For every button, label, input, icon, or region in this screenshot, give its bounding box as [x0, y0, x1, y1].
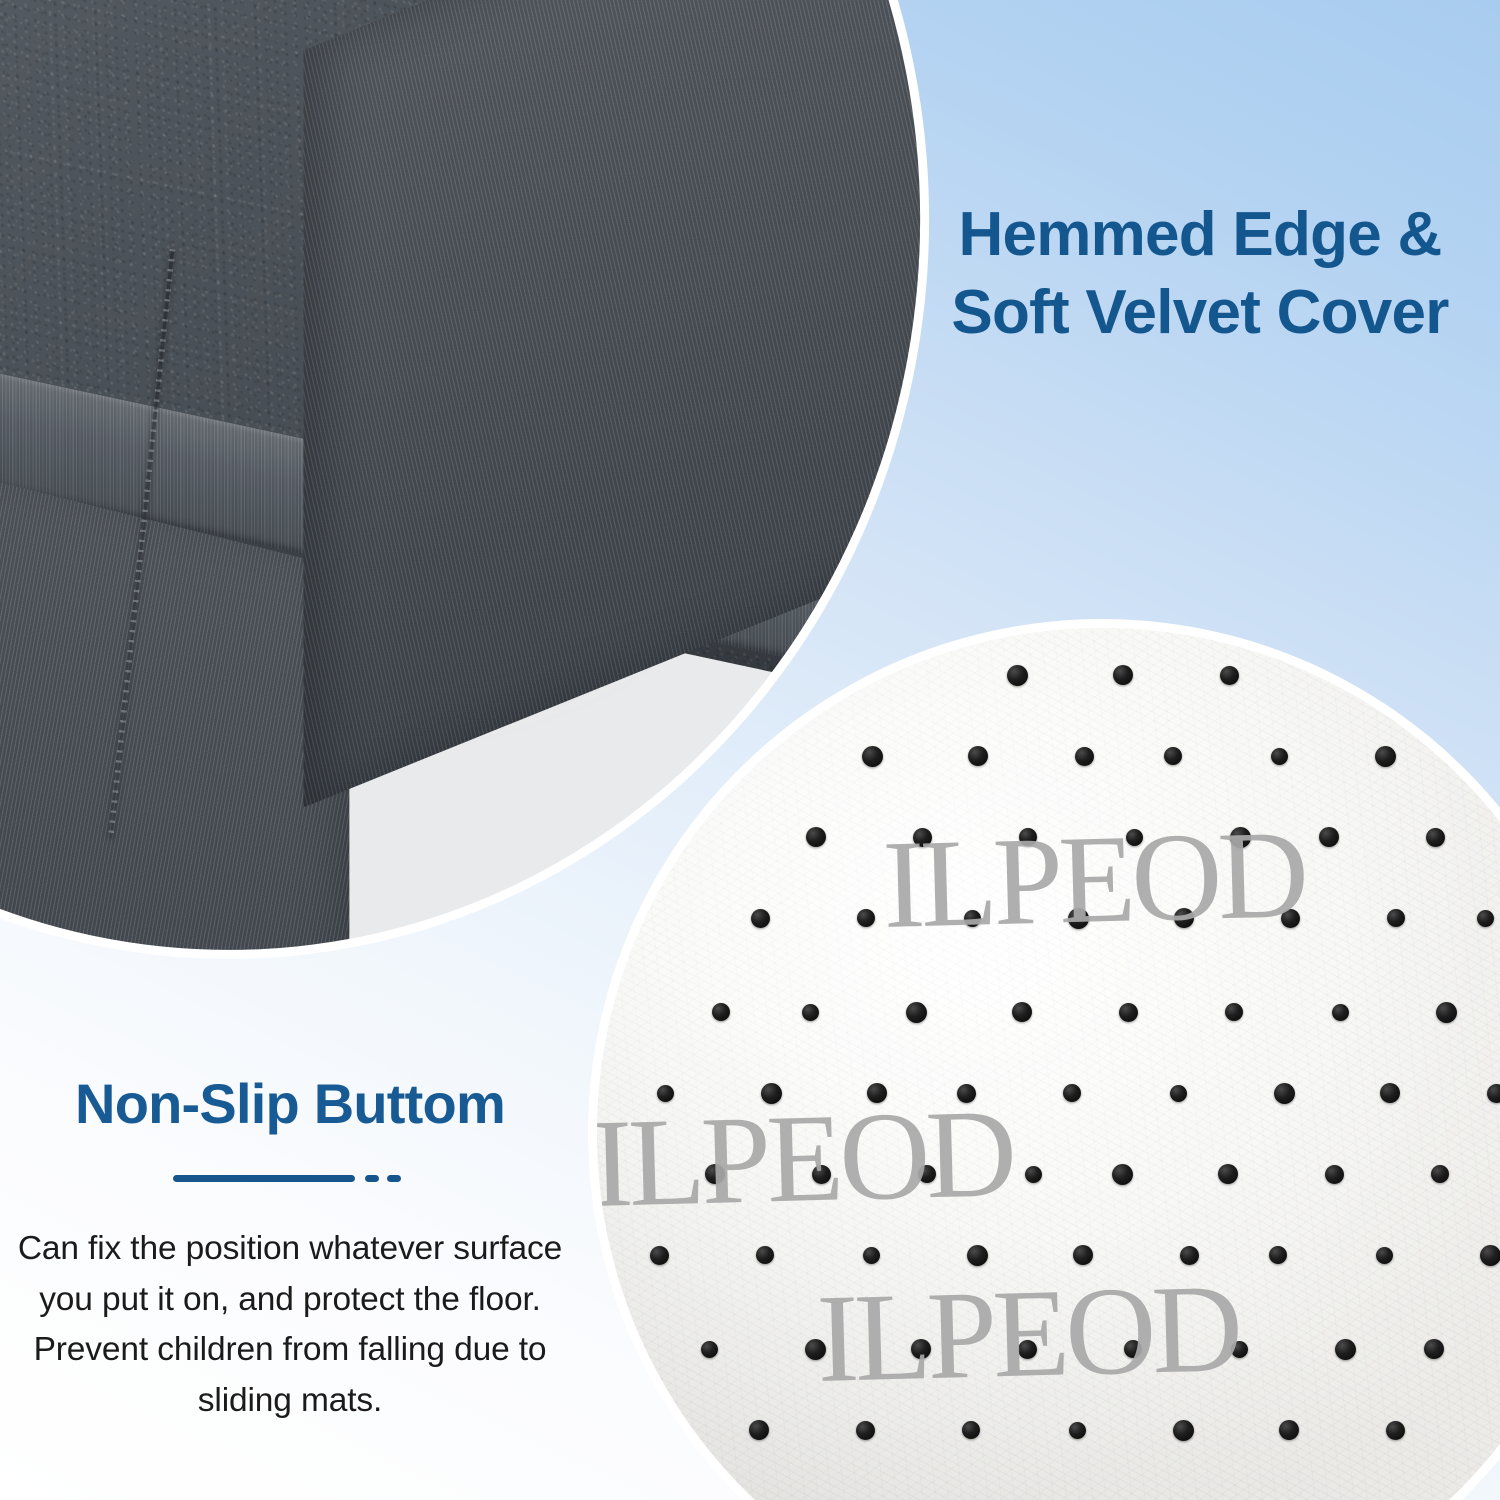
mat-grip-dot	[1063, 1084, 1081, 1102]
mat-grip-dot	[1332, 1004, 1349, 1021]
divider-dash-1	[365, 1175, 379, 1182]
mat-grip-dot	[701, 1341, 718, 1358]
mat-grip-dot	[1113, 665, 1133, 685]
mat-grip-dot	[862, 746, 883, 767]
mat-grip-dot	[1075, 747, 1094, 766]
mat-grip-dot	[1112, 1164, 1133, 1185]
mat-grip-dot	[1431, 1165, 1449, 1183]
mat-grip-dot	[1436, 1002, 1457, 1023]
brand-watermark: ILPEOD	[815, 1257, 1240, 1412]
mat-grip-dot	[802, 1004, 819, 1021]
mat-grip-dot	[650, 1246, 669, 1265]
mat-grip-dot	[857, 909, 875, 927]
mat-grip-dot	[1007, 665, 1028, 686]
mat-grip-dot	[1269, 1246, 1287, 1264]
feature-title: Non-Slip Buttom	[10, 1073, 570, 1135]
mat-grip-dot	[967, 1245, 988, 1266]
mat-grip-dot	[906, 1002, 927, 1023]
mat-grip-dot	[751, 909, 770, 928]
mat-grip-dot	[1119, 1003, 1138, 1022]
mat-grip-dot	[1380, 1083, 1400, 1103]
divider-bar	[173, 1175, 355, 1182]
mat-grip-dot	[1335, 1339, 1356, 1360]
mat-grip-dot	[1164, 747, 1182, 765]
mat-grip-dot	[1069, 1422, 1086, 1439]
mat-grip-dot	[1386, 1421, 1405, 1440]
mat-grip-dot	[1279, 1420, 1299, 1440]
headline-line-2: Soft Velvet Cover	[905, 274, 1495, 352]
divider-dash-2	[387, 1175, 401, 1182]
mat-grip-dot	[1487, 1084, 1500, 1103]
mat-grip-dot	[968, 746, 988, 766]
mat-grip-dot	[1477, 910, 1494, 927]
product-feature-graphic: ILPEOD ILPEOD ILPEOD Hemmed Edge & Soft …	[0, 0, 1500, 1500]
mat-grip-dot	[1325, 1165, 1344, 1184]
feature-divider	[173, 1175, 408, 1182]
mat-grip-dot	[1220, 666, 1239, 685]
mat-grip-dot	[1387, 909, 1405, 927]
mat-grip-dot	[1225, 1003, 1243, 1021]
headline: Hemmed Edge & Soft Velvet Cover	[905, 196, 1495, 352]
mat-grip-dot	[1319, 827, 1339, 847]
mat-grip-dot	[1426, 828, 1445, 847]
mat-grip-dot	[806, 827, 826, 847]
mat-grip-dot	[856, 1421, 875, 1440]
mat-grip-dot	[1025, 1166, 1042, 1183]
mat-grip-dot	[1375, 746, 1396, 767]
brand-watermark: ILPEOD	[881, 803, 1306, 958]
mat-grip-dot	[1274, 1083, 1295, 1104]
mat-grip-dot	[1424, 1339, 1444, 1359]
mat-grip-dot	[1218, 1164, 1238, 1184]
mat-grip-dot	[749, 1420, 769, 1440]
feature-block: Non-Slip Buttom Can fix the position wha…	[10, 1073, 570, 1427]
mat-grip-dot	[1271, 748, 1288, 765]
mat-grip-dot	[1480, 1245, 1500, 1266]
brand-watermark: ILPEOD	[597, 1082, 1014, 1237]
mat-grip-dot	[962, 1421, 980, 1439]
mat-grip-dot	[756, 1246, 774, 1264]
mat-grip-dot	[1012, 1002, 1032, 1022]
mat-grip-dot	[863, 1247, 880, 1264]
mat-grip-dot	[1376, 1247, 1393, 1264]
mat-grip-dot	[1170, 1085, 1187, 1102]
non-slip-mat-photo-panel: ILPEOD ILPEOD ILPEOD	[597, 628, 1500, 1500]
mat-grip-dot	[1173, 1420, 1194, 1441]
mat-grip-dot	[712, 1003, 730, 1021]
feature-body: Can fix the position whatever surface yo…	[10, 1224, 570, 1428]
headline-line-1: Hemmed Edge &	[905, 196, 1495, 274]
